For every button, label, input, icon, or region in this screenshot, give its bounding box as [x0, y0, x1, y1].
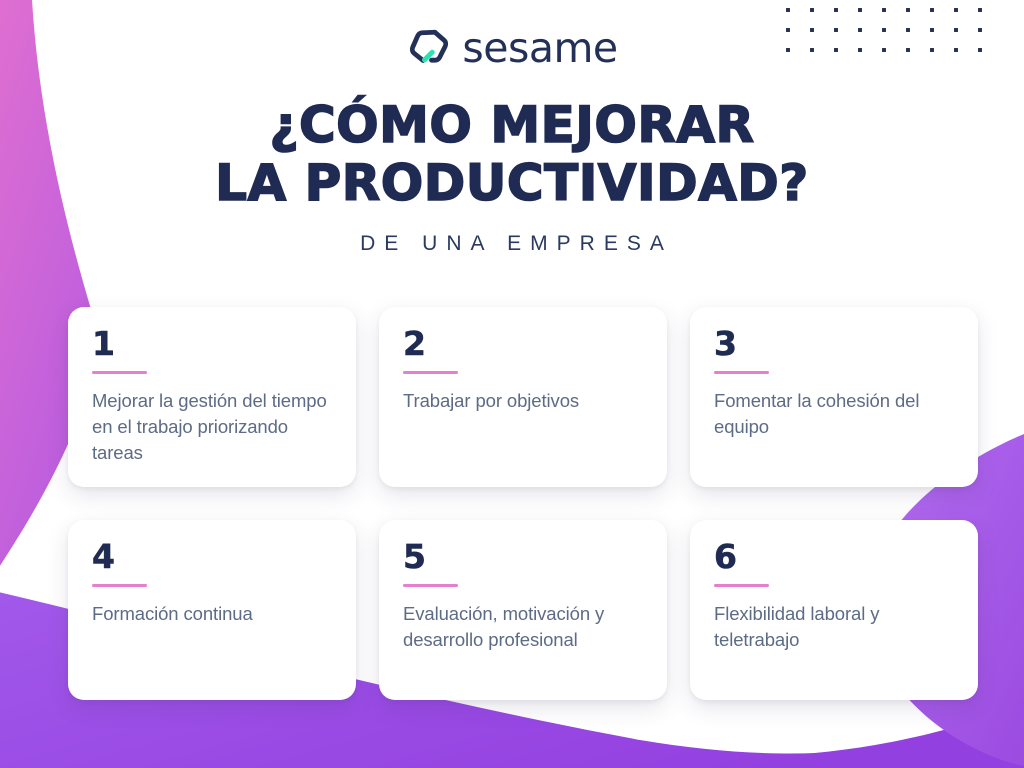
tip-card-4[interactable]: 4 Formación continua	[68, 520, 356, 700]
page-title-line-2: LA PRODUCTIVIDAD?	[0, 154, 1024, 212]
sesame-hexagon-logo-icon	[406, 26, 450, 70]
tip-card-6[interactable]: 6 Flexibilidad laboral y teletrabajo	[690, 520, 978, 700]
brand-logo: sesame	[0, 26, 1024, 70]
tip-text: Fomentar la cohesión del equipo	[714, 388, 954, 440]
tip-number: 4	[92, 540, 332, 573]
tip-divider	[92, 584, 147, 587]
tip-divider	[92, 371, 147, 374]
tip-number: 1	[92, 327, 332, 360]
tip-text: Formación continua	[92, 601, 332, 627]
tip-text: Evaluación, motivación y desarrollo prof…	[403, 601, 643, 653]
tip-text: Mejorar la gestión del tiempo en el trab…	[92, 388, 332, 466]
tip-text: Trabajar por objetivos	[403, 388, 643, 414]
tip-text: Flexibilidad laboral y teletrabajo	[714, 601, 954, 653]
page-title: ¿CÓMO MEJORAR LA PRODUCTIVIDAD?	[0, 96, 1024, 212]
tip-number: 6	[714, 540, 954, 573]
infographic-poster: sesame ¿CÓMO MEJORAR LA PRODUCTIVIDAD? D…	[0, 0, 1024, 768]
tip-card-5[interactable]: 5 Evaluación, motivación y desarrollo pr…	[379, 520, 667, 700]
tip-number: 2	[403, 327, 643, 360]
page-title-line-1: ¿CÓMO MEJORAR	[269, 96, 754, 154]
tip-card-1[interactable]: 1 Mejorar la gestión del tiempo en el tr…	[68, 307, 356, 487]
tip-divider	[714, 371, 769, 374]
tip-divider	[403, 584, 458, 587]
page-subtitle: DE UNA EMPRESA	[0, 232, 1024, 256]
tip-number: 5	[403, 540, 643, 573]
tip-number: 3	[714, 327, 954, 360]
tip-divider	[714, 584, 769, 587]
tips-card-grid: 1 Mejorar la gestión del tiempo en el tr…	[68, 307, 978, 700]
tip-divider	[403, 371, 458, 374]
brand-name: sesame	[462, 28, 617, 69]
tip-card-3[interactable]: 3 Fomentar la cohesión del equipo	[690, 307, 978, 487]
tip-card-2[interactable]: 2 Trabajar por objetivos	[379, 307, 667, 487]
